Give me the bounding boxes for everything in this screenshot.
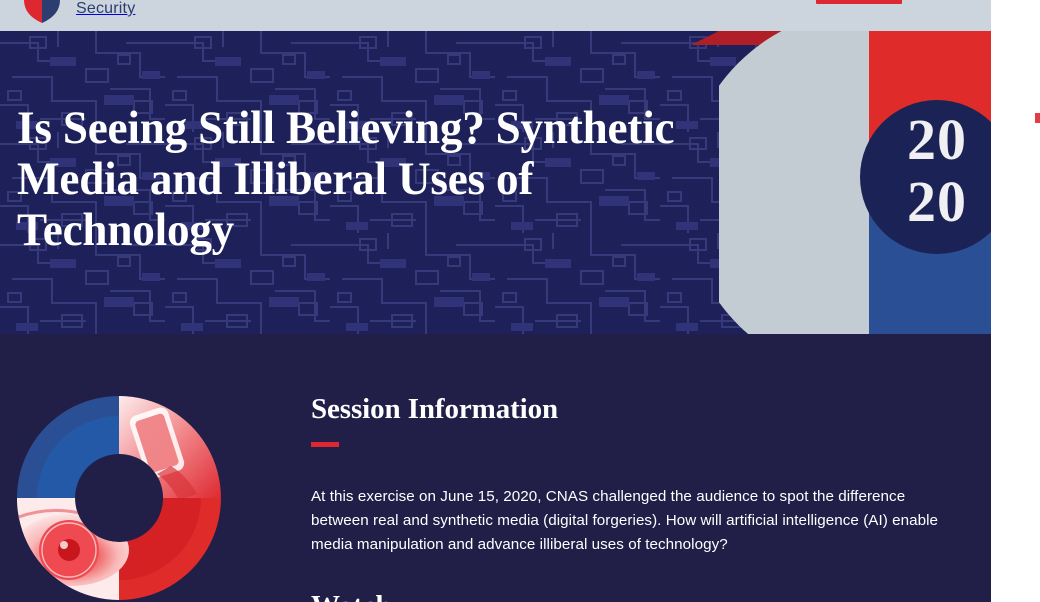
- session-content: Session Information At this exercise on …: [311, 392, 961, 602]
- svg-text:20: 20: [907, 169, 967, 234]
- hero-2020-graphic: 20 20: [719, 31, 991, 334]
- session-section: Session Information At this exercise on …: [0, 334, 991, 602]
- right-gutter: [991, 0, 1040, 602]
- scroll-marker: [1035, 113, 1040, 123]
- watch-heading: Watch: [311, 589, 961, 602]
- svg-text:20: 20: [907, 107, 967, 172]
- hero-title: Is Seeing Still Believing? Synthetic Med…: [17, 103, 689, 256]
- logo-line-2: Security: [76, 0, 285, 19]
- site-column: Center for a New American Security DONAT…: [0, 0, 991, 602]
- four-quadrant-donut-graphic: [17, 396, 221, 600]
- cnas-logo-link[interactable]: Center for a New American Security: [18, 0, 285, 28]
- session-information-heading: Session Information: [311, 392, 961, 426]
- session-heading-rule: [311, 442, 339, 447]
- page-root: Center for a New American Security DONAT…: [0, 0, 1040, 602]
- site-header: Center for a New American Security DONAT…: [0, 0, 991, 31]
- session-description: At this exercise on June 15, 2020, CNAS …: [311, 485, 966, 557]
- donate-button[interactable]: DONATE: [816, 0, 902, 4]
- cnas-wordmark: Center for a New American Security: [76, 0, 285, 19]
- hero-banner: 20 20 Is Seeing Still Believing? Synthet…: [0, 31, 991, 334]
- cnas-shield-icon: [18, 0, 66, 28]
